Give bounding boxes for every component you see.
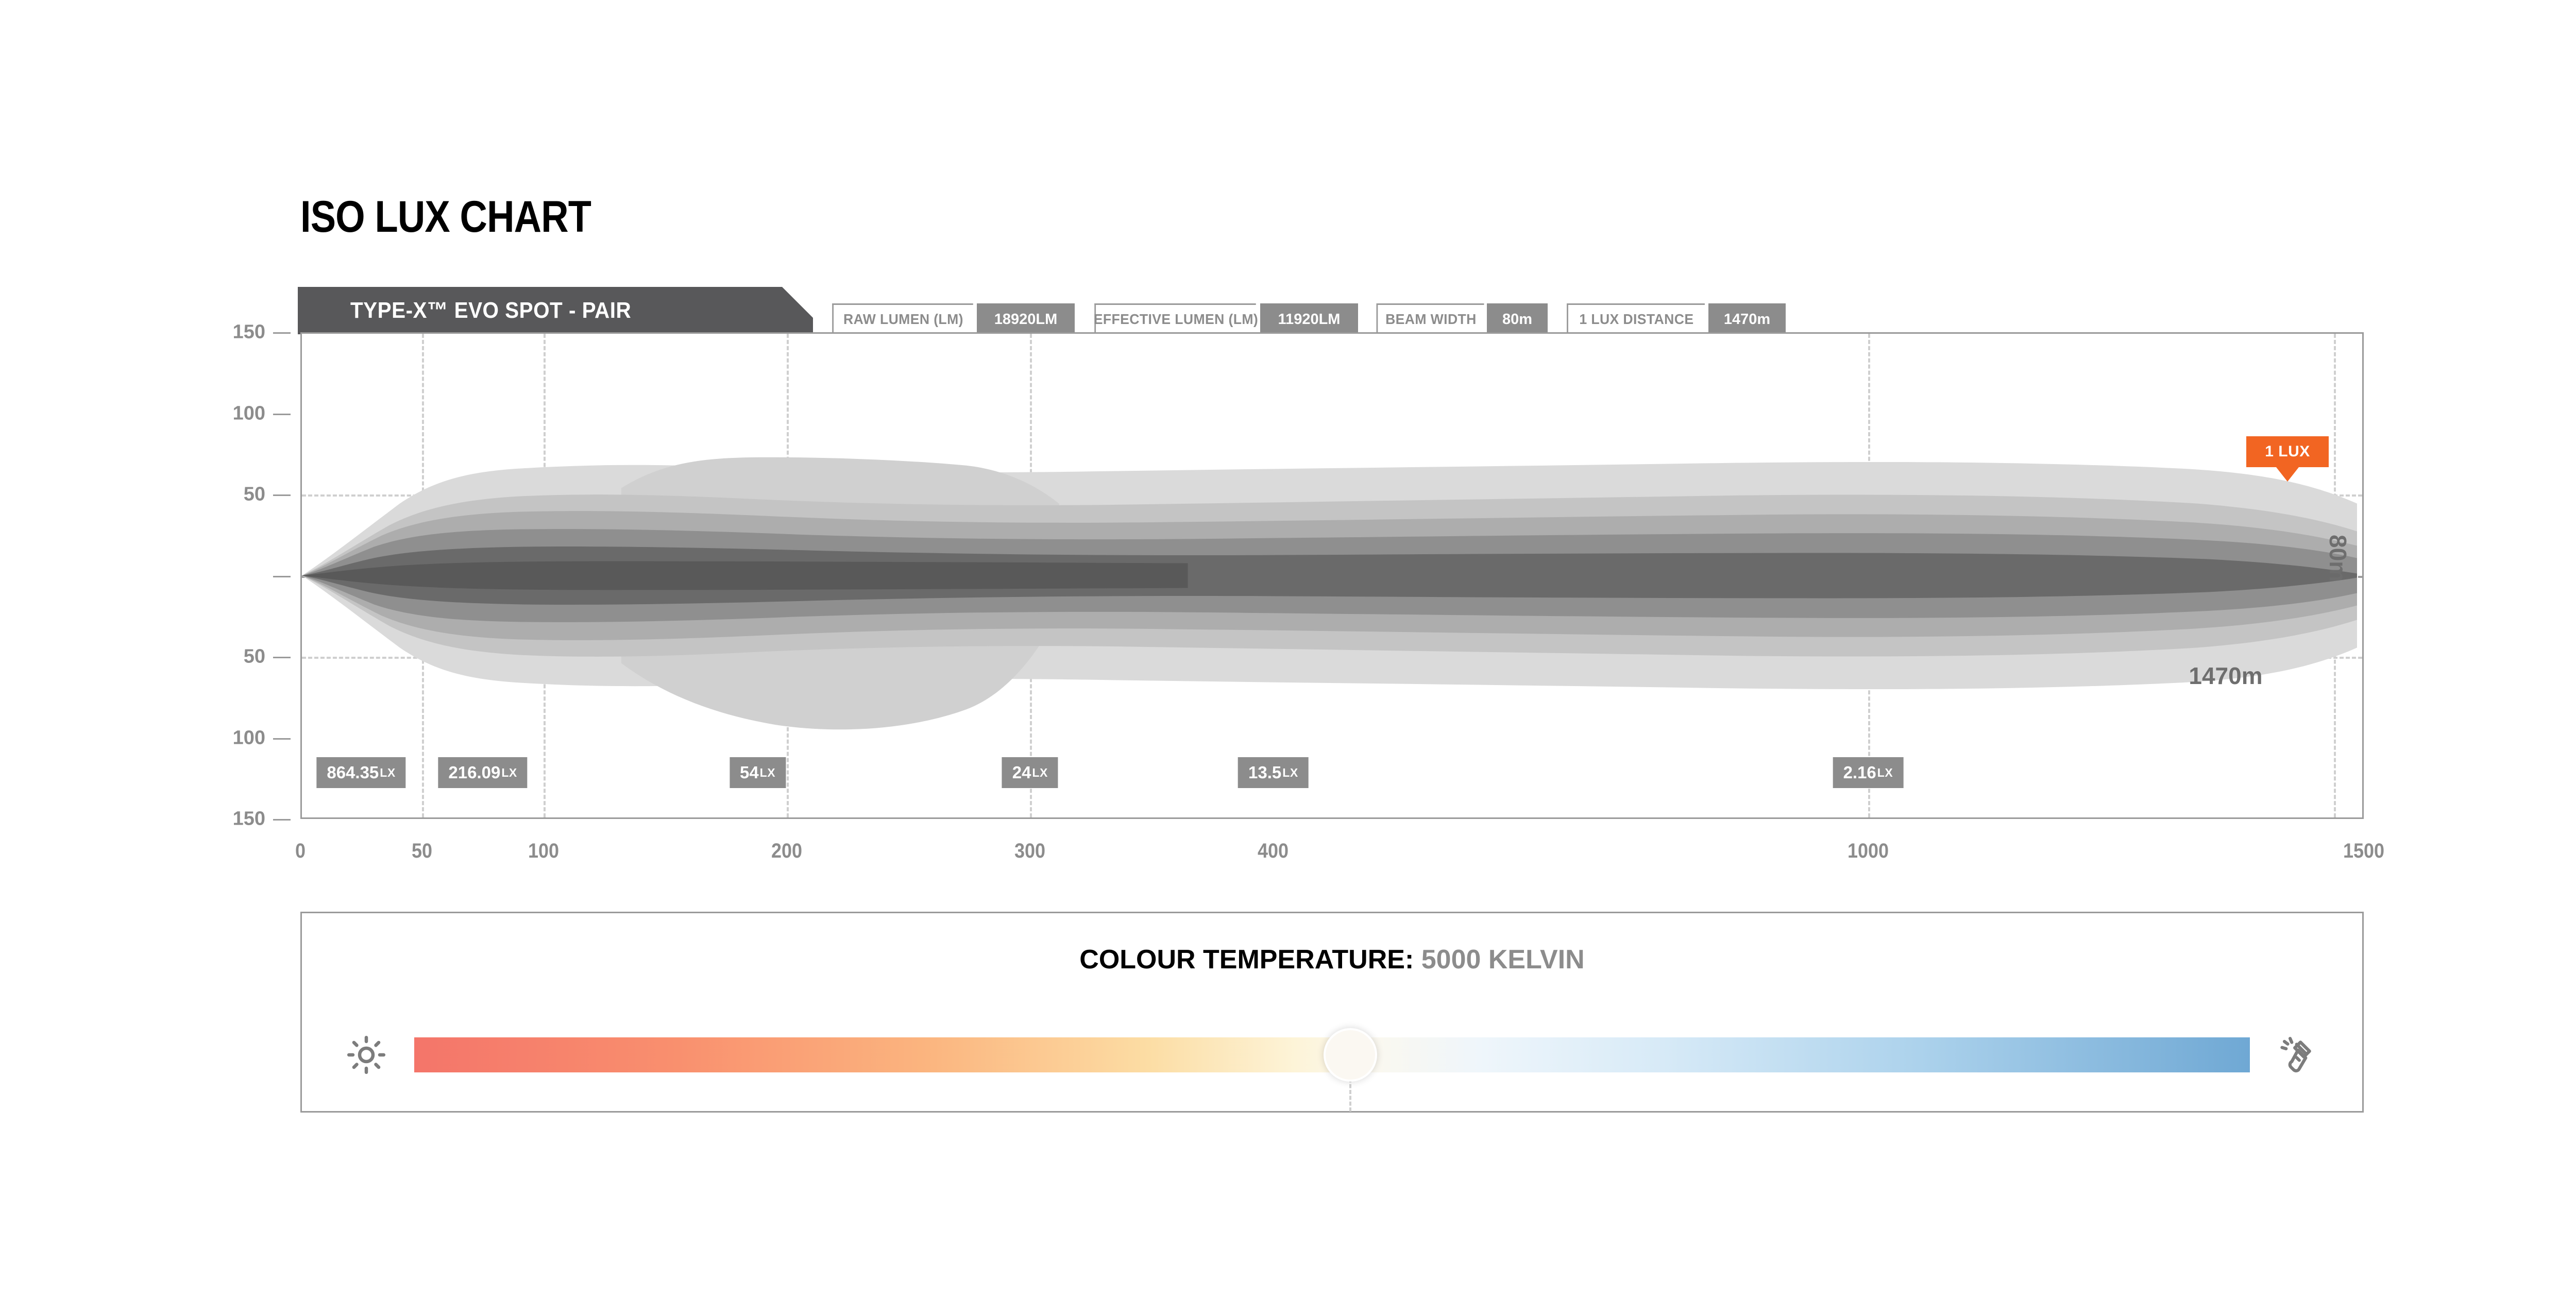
- beam-pattern-graphic: [302, 334, 2362, 817]
- lux-value: 864.35: [327, 763, 379, 782]
- lux-value-badge: 54LX: [730, 757, 786, 788]
- lux-value-badge: 13.5LX: [1238, 757, 1309, 788]
- lux-value: 54: [740, 763, 759, 782]
- x-tick-label: 0: [295, 840, 306, 863]
- spec-label: EFFECTIVE LUMEN (LM): [1094, 303, 1256, 335]
- colour-temperature-gradient-track[interactable]: [414, 1037, 2250, 1072]
- spec-label: RAW LUMEN (LM): [832, 303, 973, 335]
- spec-badge-one-lux-distance: 1 LUX DISTANCE 1470m: [1563, 303, 1786, 335]
- y-tick-mark: [273, 657, 291, 658]
- x-tick-label: 1500: [2343, 840, 2384, 863]
- iso-lux-chart-page: ISO LUX CHART TYPE-X™ EVO SPOT - PAIR RA…: [0, 0, 2576, 1298]
- page-title: ISO LUX CHART: [300, 192, 591, 243]
- lux-value: 216.09: [448, 763, 500, 782]
- spec-badge-row: RAW LUMEN (LM) 18920LM EFFECTIVE LUMEN (…: [828, 303, 1801, 335]
- y-tick-label: 150: [178, 808, 265, 830]
- one-lux-callout: 1 LUX: [2246, 436, 2329, 467]
- lux-value-badge: 24LX: [1002, 757, 1058, 788]
- lux-unit: LX: [1877, 766, 1893, 780]
- x-tick-label: 200: [771, 840, 802, 863]
- y-tick-mark: [273, 738, 291, 740]
- spec-badge-raw-lumen: RAW LUMEN (LM) 18920LM: [828, 303, 1075, 335]
- spec-value: 18920LM: [977, 303, 1075, 335]
- y-tick-label: 150: [178, 321, 265, 344]
- x-tick-label: 300: [1014, 840, 1045, 863]
- sun-icon: [338, 1035, 395, 1075]
- colour-temperature-label: COLOUR TEMPERATURE:: [1079, 945, 1414, 975]
- lux-unit: LX: [1032, 766, 1047, 780]
- one-lux-distance-annotation: 1470m: [2189, 662, 2262, 690]
- beam-width-annotation: 80m: [2324, 535, 2352, 582]
- colour-temperature-heading: COLOUR TEMPERATURE: 5000 KELVIN: [302, 944, 2362, 975]
- y-tick-mark: [273, 576, 291, 577]
- x-tick-label: 100: [528, 840, 559, 863]
- lux-value: 13.5: [1248, 763, 1281, 782]
- lux-value-badge: 864.35LX: [316, 757, 405, 788]
- beam-plot-inner: [302, 334, 2362, 817]
- x-tick-label: 50: [412, 840, 432, 863]
- slider-handle[interactable]: [1324, 1028, 1377, 1082]
- spec-value: 1470m: [1708, 303, 1786, 335]
- x-tick-label: 1000: [1848, 840, 1889, 863]
- product-name-label: TYPE-X™ EVO SPOT - PAIR: [350, 298, 631, 323]
- y-tick-mark: [273, 414, 291, 415]
- spec-badge-beam-width: BEAM WIDTH 80m: [1374, 303, 1548, 335]
- colour-temperature-panel: COLOUR TEMPERATURE: 5000 KELVIN: [300, 912, 2364, 1113]
- lux-value-badge: 216.09LX: [438, 757, 527, 788]
- one-lux-label: 1 LUX: [2265, 443, 2310, 460]
- lux-unit: LX: [1282, 766, 1298, 780]
- one-lux-pointer-icon: [2276, 467, 2299, 482]
- lux-unit: LX: [380, 766, 395, 780]
- spec-label: 1 LUX DISTANCE: [1567, 303, 1705, 335]
- lux-value: 2.16: [1843, 763, 1876, 782]
- spec-label: BEAM WIDTH: [1377, 303, 1484, 335]
- product-name-tag: TYPE-X™ EVO SPOT - PAIR: [298, 287, 813, 334]
- beam-plot-area: [300, 332, 2364, 819]
- colour-temperature-value: 5000 KELVIN: [1421, 945, 1585, 975]
- lux-value: 24: [1012, 763, 1031, 782]
- flashlight-icon: [2269, 1035, 2326, 1075]
- y-tick-mark: [273, 494, 291, 496]
- lux-unit: LX: [501, 766, 517, 780]
- y-tick-label: 50: [178, 646, 265, 668]
- x-tick-label: 400: [1258, 840, 1289, 863]
- y-tick-label: 50: [178, 484, 265, 506]
- lux-value-badge: 2.16LX: [1833, 757, 1904, 788]
- spec-value: 80m: [1487, 303, 1548, 335]
- lux-unit: LX: [760, 766, 775, 780]
- y-tick-mark: [273, 819, 291, 821]
- y-tick-mark: [273, 332, 291, 334]
- colour-temperature-slider[interactable]: [338, 1024, 2326, 1086]
- y-tick-label: 100: [178, 727, 265, 749]
- y-tick-label: 100: [178, 402, 265, 424]
- spec-badge-effective-lumen: EFFECTIVE LUMEN (LM) 11920LM: [1090, 303, 1358, 335]
- spec-value: 11920LM: [1260, 303, 1358, 335]
